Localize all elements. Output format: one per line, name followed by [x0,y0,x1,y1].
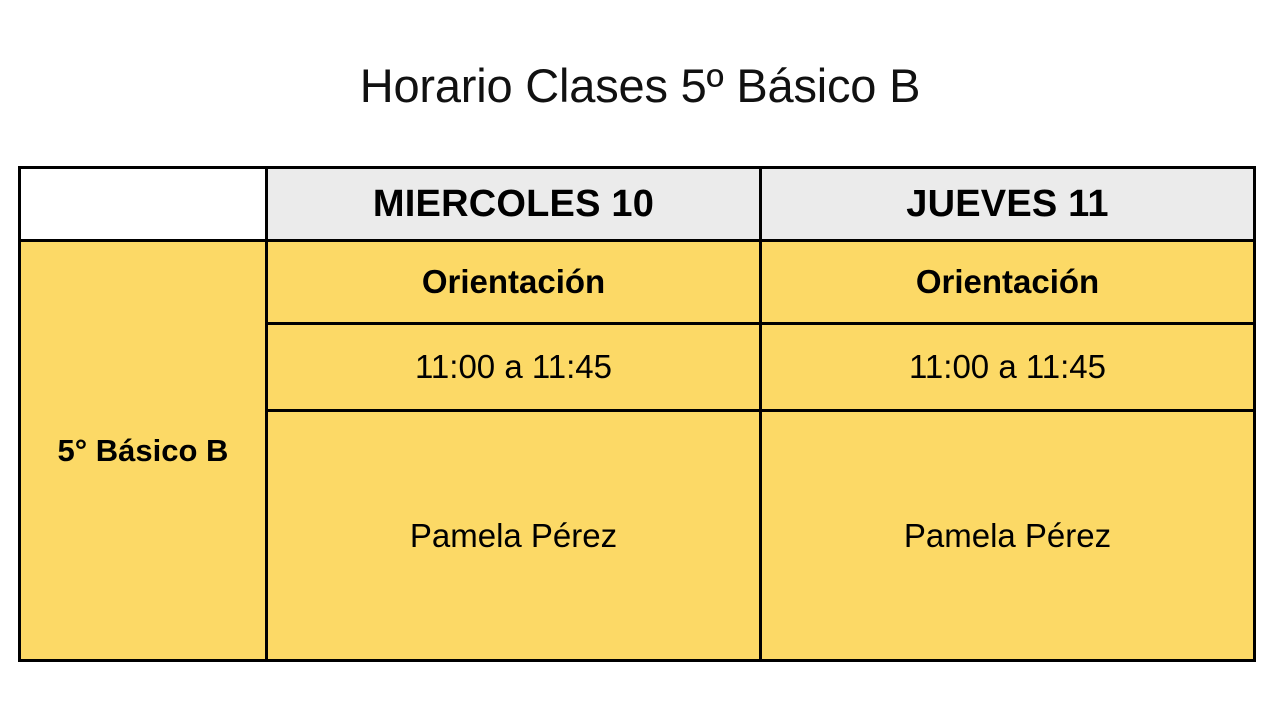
cell-subject-jueves: Orientación [761,241,1255,324]
page-title: Horario Clases 5º Básico B [0,58,1280,113]
column-header-miercoles: MIERCOLES 10 [267,168,761,241]
cell-teacher-jueves: Pamela Pérez [761,411,1255,661]
column-header-jueves: JUEVES 11 [761,168,1255,241]
cell-time-jueves: 11:00 a 11:45 [761,324,1255,411]
cell-time-miercoles: 11:00 a 11:45 [267,324,761,411]
table-corner-cell [20,168,267,241]
cell-teacher-miercoles: Pamela Pérez [267,411,761,661]
table-header-row: MIERCOLES 10 JUEVES 11 [20,168,1255,241]
cell-subject-miercoles: Orientación [267,241,761,324]
schedule-table: MIERCOLES 10 JUEVES 11 5° Básico B Orien… [18,166,1256,662]
table-row: 5° Básico B Orientación Orientación [20,241,1255,324]
row-label-curso: 5° Básico B [20,241,267,661]
